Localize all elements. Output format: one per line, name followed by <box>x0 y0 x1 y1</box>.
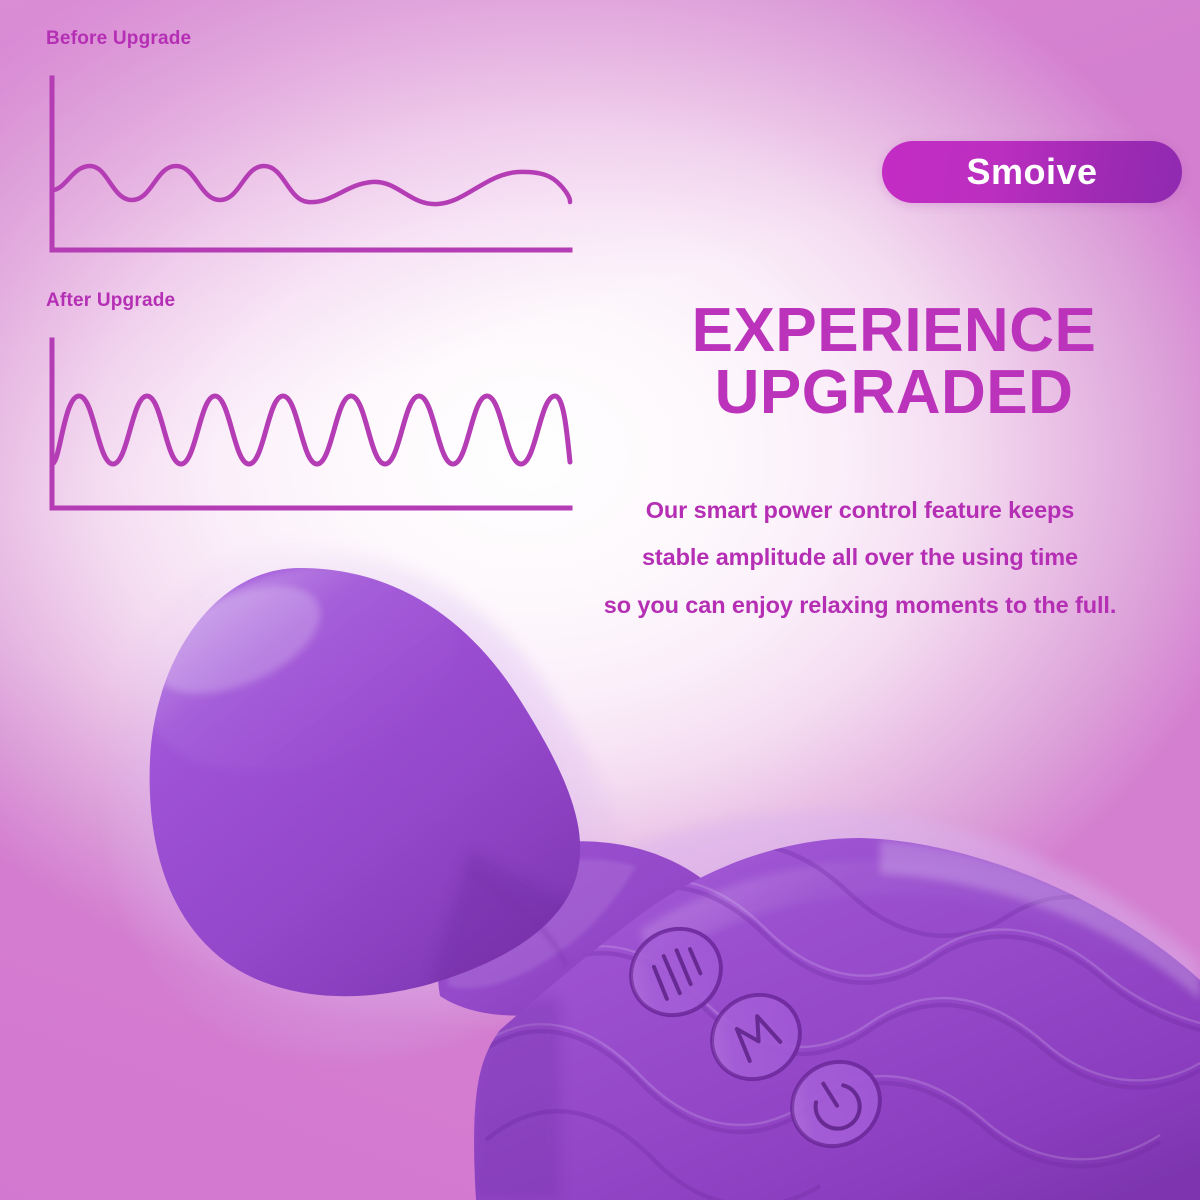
page-title: EXPERIENCE UPGRADED <box>600 300 1188 424</box>
chart-before-upgrade: Before Upgrade <box>46 28 576 262</box>
brand-badge: Smoive <box>882 141 1182 203</box>
chart-after-upgrade: After Upgrade <box>46 290 576 524</box>
headline-line-2: UPGRADED <box>600 362 1188 424</box>
chart-after-label: After Upgrade <box>46 290 576 312</box>
chart-before-svg <box>46 72 576 262</box>
chart-before-label: Before Upgrade <box>46 28 576 50</box>
chart-before-axes <box>52 78 570 250</box>
description-text: Our smart power control feature keeps st… <box>528 487 1192 629</box>
brand-name: Smoive <box>966 154 1097 190</box>
body-line-1: Our smart power control feature keeps <box>528 487 1192 534</box>
body-line-3: so you can enjoy relaxing moments to the… <box>528 582 1192 629</box>
chart-after-svg <box>46 334 576 524</box>
body-line-2: stable amplitude all over the using time <box>528 534 1192 581</box>
chart-after-line <box>52 396 570 464</box>
promo-image: Before Upgrade After Upgrade Smoive EXPE… <box>0 0 1200 1200</box>
chart-before-line <box>52 166 570 204</box>
headline-line-1: EXPERIENCE <box>600 300 1188 362</box>
